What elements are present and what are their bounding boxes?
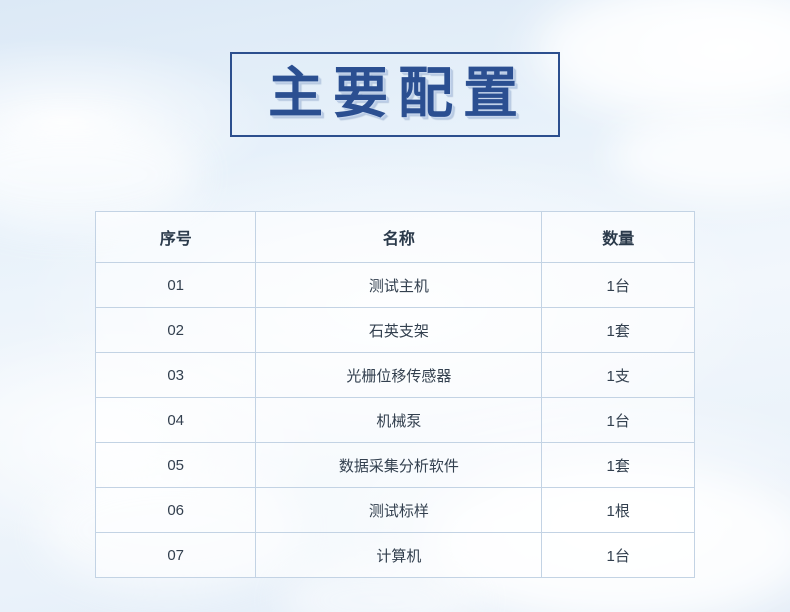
- cell-no: 01: [96, 263, 256, 308]
- table-header-row: 序号 名称 数量: [96, 212, 695, 263]
- cell-qty: 1支: [542, 353, 695, 398]
- table-row: 02 石英支架 1套: [96, 308, 695, 353]
- table-header: 序号 名称 数量: [96, 212, 695, 263]
- table-row: 04 机械泵 1台: [96, 398, 695, 443]
- cell-qty: 1台: [542, 533, 695, 578]
- table-row: 06 测试标样 1根: [96, 488, 695, 533]
- cell-qty: 1台: [542, 398, 695, 443]
- table-body: 01 测试主机 1台 02 石英支架 1套 03 光栅位移传感器 1支 04 机…: [96, 263, 695, 578]
- cell-name: 光栅位移传感器: [256, 353, 542, 398]
- cell-qty: 1台: [542, 263, 695, 308]
- cell-name: 机械泵: [256, 398, 542, 443]
- page-title: 主要配置: [262, 64, 528, 121]
- cell-no: 02: [96, 308, 256, 353]
- table-row: 03 光栅位移传感器 1支: [96, 353, 695, 398]
- cell-name: 计算机: [256, 533, 542, 578]
- cell-no: 07: [96, 533, 256, 578]
- configuration-table: 序号 名称 数量 01 测试主机 1台 02 石英支架 1套 03: [95, 211, 695, 578]
- cell-no: 04: [96, 398, 256, 443]
- cell-name: 测试标样: [256, 488, 542, 533]
- cell-name: 数据采集分析软件: [256, 443, 542, 488]
- table-row: 05 数据采集分析软件 1套: [96, 443, 695, 488]
- page-background: 主要配置 序号 名称 数量 01 测试主机 1台 02 石英支架: [0, 0, 790, 612]
- table-row: 07 计算机 1台: [96, 533, 695, 578]
- table-row: 01 测试主机 1台: [96, 263, 695, 308]
- cell-qty: 1根: [542, 488, 695, 533]
- cell-name: 石英支架: [256, 308, 542, 353]
- page-title-container: 主要配置: [0, 52, 790, 137]
- title-frame: 主要配置: [230, 52, 560, 137]
- cell-qty: 1套: [542, 308, 695, 353]
- column-header-name: 名称: [256, 212, 542, 263]
- cell-qty: 1套: [542, 443, 695, 488]
- cell-name: 测试主机: [256, 263, 542, 308]
- configuration-table-container: 序号 名称 数量 01 测试主机 1台 02 石英支架 1套 03: [95, 211, 695, 578]
- column-header-qty: 数量: [542, 212, 695, 263]
- cell-no: 03: [96, 353, 256, 398]
- cell-no: 06: [96, 488, 256, 533]
- column-header-no: 序号: [96, 212, 256, 263]
- cell-no: 05: [96, 443, 256, 488]
